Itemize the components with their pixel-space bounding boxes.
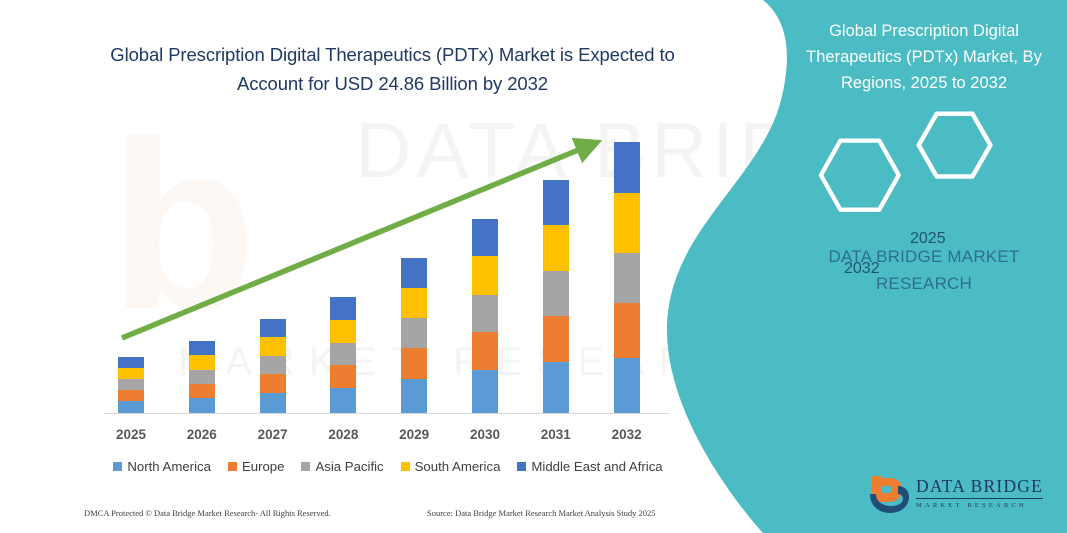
bar-segment-middle-east-and-africa bbox=[189, 341, 215, 355]
bar-segment-middle-east-and-africa bbox=[260, 319, 286, 337]
bar-2028 bbox=[330, 297, 356, 413]
x-axis-label-2026: 2026 bbox=[172, 427, 232, 442]
legend-item-asia-pacific[interactable]: Asia Pacific bbox=[301, 459, 383, 474]
x-axis-label-2031: 2031 bbox=[526, 427, 586, 442]
legend-item-north-america[interactable]: North America bbox=[113, 459, 211, 474]
legend-label: South America bbox=[415, 459, 501, 474]
bar-segment-north-america bbox=[118, 401, 144, 413]
bar-segment-north-america bbox=[614, 358, 640, 413]
legend-label: Asia Pacific bbox=[315, 459, 383, 474]
chart-legend: North AmericaEuropeAsia PacificSouth Ame… bbox=[98, 459, 678, 474]
bar-group bbox=[0, 0, 700, 420]
bar-segment-south-america bbox=[543, 225, 569, 271]
bar-segment-asia-pacific bbox=[118, 379, 144, 390]
footer-source: Source: Data Bridge Market Research Mark… bbox=[427, 508, 656, 518]
legend-item-south-america[interactable]: South America bbox=[401, 459, 501, 474]
legend-swatch-icon bbox=[401, 462, 410, 471]
bar-segment-north-america bbox=[401, 379, 427, 413]
bar-segment-south-america bbox=[189, 355, 215, 370]
bar-segment-europe bbox=[260, 374, 286, 393]
bar-segment-asia-pacific bbox=[614, 253, 640, 303]
legend-item-europe[interactable]: Europe bbox=[228, 459, 285, 474]
bar-2026 bbox=[189, 341, 215, 413]
x-axis-label-2030: 2030 bbox=[455, 427, 515, 442]
hexagon-group: 2025 2032 bbox=[800, 100, 1050, 220]
bar-segment-middle-east-and-africa bbox=[330, 297, 356, 320]
bar-segment-europe bbox=[614, 303, 640, 358]
bar-segment-north-america bbox=[189, 398, 215, 413]
bar-segment-north-america bbox=[330, 388, 356, 413]
x-axis-label-2029: 2029 bbox=[384, 427, 444, 442]
data-bridge-logo: DATA BRIDGE MARKET RESEARCH bbox=[868, 472, 1048, 520]
bar-segment-middle-east-and-africa bbox=[543, 180, 569, 225]
bar-segment-middle-east-and-africa bbox=[401, 258, 427, 288]
bar-segment-south-america bbox=[614, 193, 640, 253]
bar-segment-europe bbox=[118, 390, 144, 401]
legend-swatch-icon bbox=[228, 462, 237, 471]
bar-segment-europe bbox=[543, 316, 569, 362]
legend-swatch-icon bbox=[301, 462, 310, 471]
legend-label: Europe bbox=[242, 459, 285, 474]
bar-2027 bbox=[260, 319, 286, 413]
x-axis-label-2025: 2025 bbox=[101, 427, 161, 442]
bar-segment-asia-pacific bbox=[472, 295, 498, 332]
bar-segment-north-america bbox=[472, 370, 498, 413]
bar-segment-middle-east-and-africa bbox=[118, 357, 144, 368]
x-axis-label-2032: 2032 bbox=[597, 427, 657, 442]
logo-text-block: DATA BRIDGE MARKET RESEARCH bbox=[916, 476, 1043, 509]
legend-label: Middle East and Africa bbox=[531, 459, 662, 474]
bar-segment-north-america bbox=[260, 393, 286, 413]
logo-mark-icon bbox=[868, 472, 914, 516]
legend-swatch-icon bbox=[113, 462, 122, 471]
panel-brand-text: DATA BRIDGE MARKET RESEARCH bbox=[795, 243, 1053, 297]
infographic-page: b DATA BRIDGE MARKET RESEARCH Global Pre… bbox=[0, 0, 1067, 533]
footer: DMCA Protected © Data Bridge Market Rese… bbox=[0, 508, 700, 528]
x-axis-label-2027: 2027 bbox=[243, 427, 303, 442]
bar-segment-middle-east-and-africa bbox=[472, 219, 498, 256]
bar-segment-south-america bbox=[260, 337, 286, 356]
bar-segment-europe bbox=[401, 348, 427, 379]
bar-2029 bbox=[401, 258, 427, 413]
bar-2030 bbox=[472, 219, 498, 413]
bar-segment-south-america bbox=[118, 368, 144, 379]
bar-segment-asia-pacific bbox=[330, 343, 356, 365]
bar-segment-middle-east-and-africa bbox=[614, 142, 640, 193]
bar-segment-south-america bbox=[330, 320, 356, 343]
bar-segment-south-america bbox=[401, 288, 427, 318]
bar-2025 bbox=[118, 357, 144, 413]
legend-label: North America bbox=[127, 459, 211, 474]
logo-name: DATA BRIDGE bbox=[916, 476, 1043, 499]
bar-segment-north-america bbox=[543, 362, 569, 413]
bar-segment-europe bbox=[472, 332, 498, 370]
footer-dmca: DMCA Protected © Data Bridge Market Rese… bbox=[84, 508, 331, 518]
bar-segment-asia-pacific bbox=[401, 318, 427, 348]
stacked-bar-chart: 20252026202720282029203020312032 bbox=[0, 0, 700, 470]
x-axis-label-2028: 2028 bbox=[313, 427, 373, 442]
panel-title: Global Prescription Digital Therapeutics… bbox=[795, 18, 1053, 96]
bar-segment-asia-pacific bbox=[543, 271, 569, 316]
x-axis-labels: 20252026202720282029203020312032 bbox=[0, 427, 700, 447]
bar-2032 bbox=[614, 142, 640, 413]
bar-2031 bbox=[543, 180, 569, 413]
bar-segment-south-america bbox=[472, 256, 498, 295]
logo-tagline: MARKET RESEARCH bbox=[916, 502, 1043, 509]
bar-segment-europe bbox=[189, 384, 215, 398]
legend-item-middle-east-and-africa[interactable]: Middle East and Africa bbox=[517, 459, 662, 474]
bar-segment-asia-pacific bbox=[260, 356, 286, 374]
hexagon-shapes bbox=[800, 100, 1050, 220]
bar-segment-asia-pacific bbox=[189, 370, 215, 384]
bar-segment-europe bbox=[330, 365, 356, 388]
legend-swatch-icon bbox=[517, 462, 526, 471]
